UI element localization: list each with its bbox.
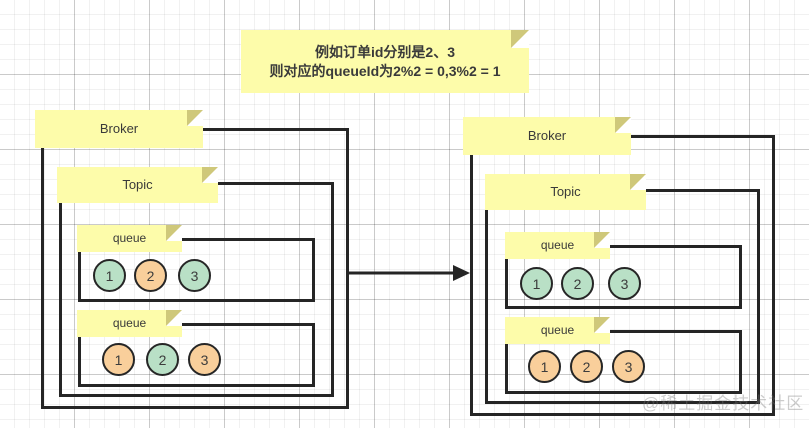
note-fold-icon xyxy=(511,30,529,48)
queue-label-left-2: queue xyxy=(113,315,146,331)
queue-item-left-1-1: 1 xyxy=(93,259,126,292)
queue-note-left-2: queue xyxy=(77,310,182,337)
queue-note-right-2: queue xyxy=(505,317,610,344)
watermark: @稀土掘金技术社区 xyxy=(642,389,804,414)
queue-item-left-2-2: 2 xyxy=(146,343,179,376)
arrow-head-icon xyxy=(453,265,470,281)
callout-line-2: 则对应的queueId为2%2 = 0,3%2 = 1 xyxy=(269,62,500,81)
diagram-canvas: 例如订单id分别是2、3 则对应的queueId为2%2 = 0,3%2 = 1… xyxy=(0,0,809,428)
callout-note: 例如订单id分别是2、3 则对应的queueId为2%2 = 0,3%2 = 1 xyxy=(241,30,529,93)
broker-label-right: Broker xyxy=(528,127,566,145)
topic-label-right: Topic xyxy=(550,183,580,201)
queue-label-right-1: queue xyxy=(541,237,574,253)
queue-item-value: 2 xyxy=(147,268,155,284)
note-fold-icon xyxy=(166,225,182,241)
queue-item-value: 1 xyxy=(533,276,541,292)
callout-line-1: 例如订单id分别是2、3 xyxy=(315,43,455,62)
queue-note-left-1: queue xyxy=(77,225,182,252)
broker-label-left: Broker xyxy=(100,120,138,138)
queue-item-right-1-1: 1 xyxy=(520,267,553,300)
queue-item-right-2-3: 3 xyxy=(612,350,645,383)
queue-item-value: 3 xyxy=(191,268,199,284)
note-fold-icon xyxy=(166,310,182,326)
queue-item-left-1-2: 2 xyxy=(134,259,167,292)
queue-item-value: 3 xyxy=(625,359,633,375)
queue-label-right-2: queue xyxy=(541,322,574,338)
queue-item-value: 1 xyxy=(541,359,549,375)
topic-label-left: Topic xyxy=(122,176,152,194)
note-fold-icon xyxy=(594,317,610,333)
note-fold-icon xyxy=(187,110,203,126)
queue-item-value: 3 xyxy=(201,352,209,368)
queue-item-right-1-3: 3 xyxy=(608,267,641,300)
queue-item-right-2-2: 2 xyxy=(570,350,603,383)
broker-note-left: Broker xyxy=(35,110,203,148)
topic-note-right: Topic xyxy=(485,174,646,210)
queue-item-left-2-1: 1 xyxy=(102,343,135,376)
queue-note-right-1: queue xyxy=(505,232,610,259)
note-fold-icon xyxy=(202,167,218,183)
note-fold-icon xyxy=(615,117,631,133)
queue-item-left-1-3: 3 xyxy=(178,259,211,292)
broker-note-right: Broker xyxy=(463,117,631,155)
queue-item-right-2-1: 1 xyxy=(528,350,561,383)
note-fold-icon xyxy=(594,232,610,248)
note-fold-icon xyxy=(630,174,646,190)
queue-item-value: 2 xyxy=(159,352,167,368)
queue-item-left-2-3: 3 xyxy=(188,343,221,376)
topic-note-left: Topic xyxy=(57,167,218,203)
flow-arrow xyxy=(345,258,473,288)
queue-item-value: 1 xyxy=(115,352,123,368)
queue-item-value: 1 xyxy=(106,268,114,284)
queue-item-value: 2 xyxy=(574,276,582,292)
queue-label-left-1: queue xyxy=(113,230,146,246)
queue-item-right-1-2: 2 xyxy=(561,267,594,300)
queue-item-value: 3 xyxy=(621,276,629,292)
queue-item-value: 2 xyxy=(583,359,591,375)
